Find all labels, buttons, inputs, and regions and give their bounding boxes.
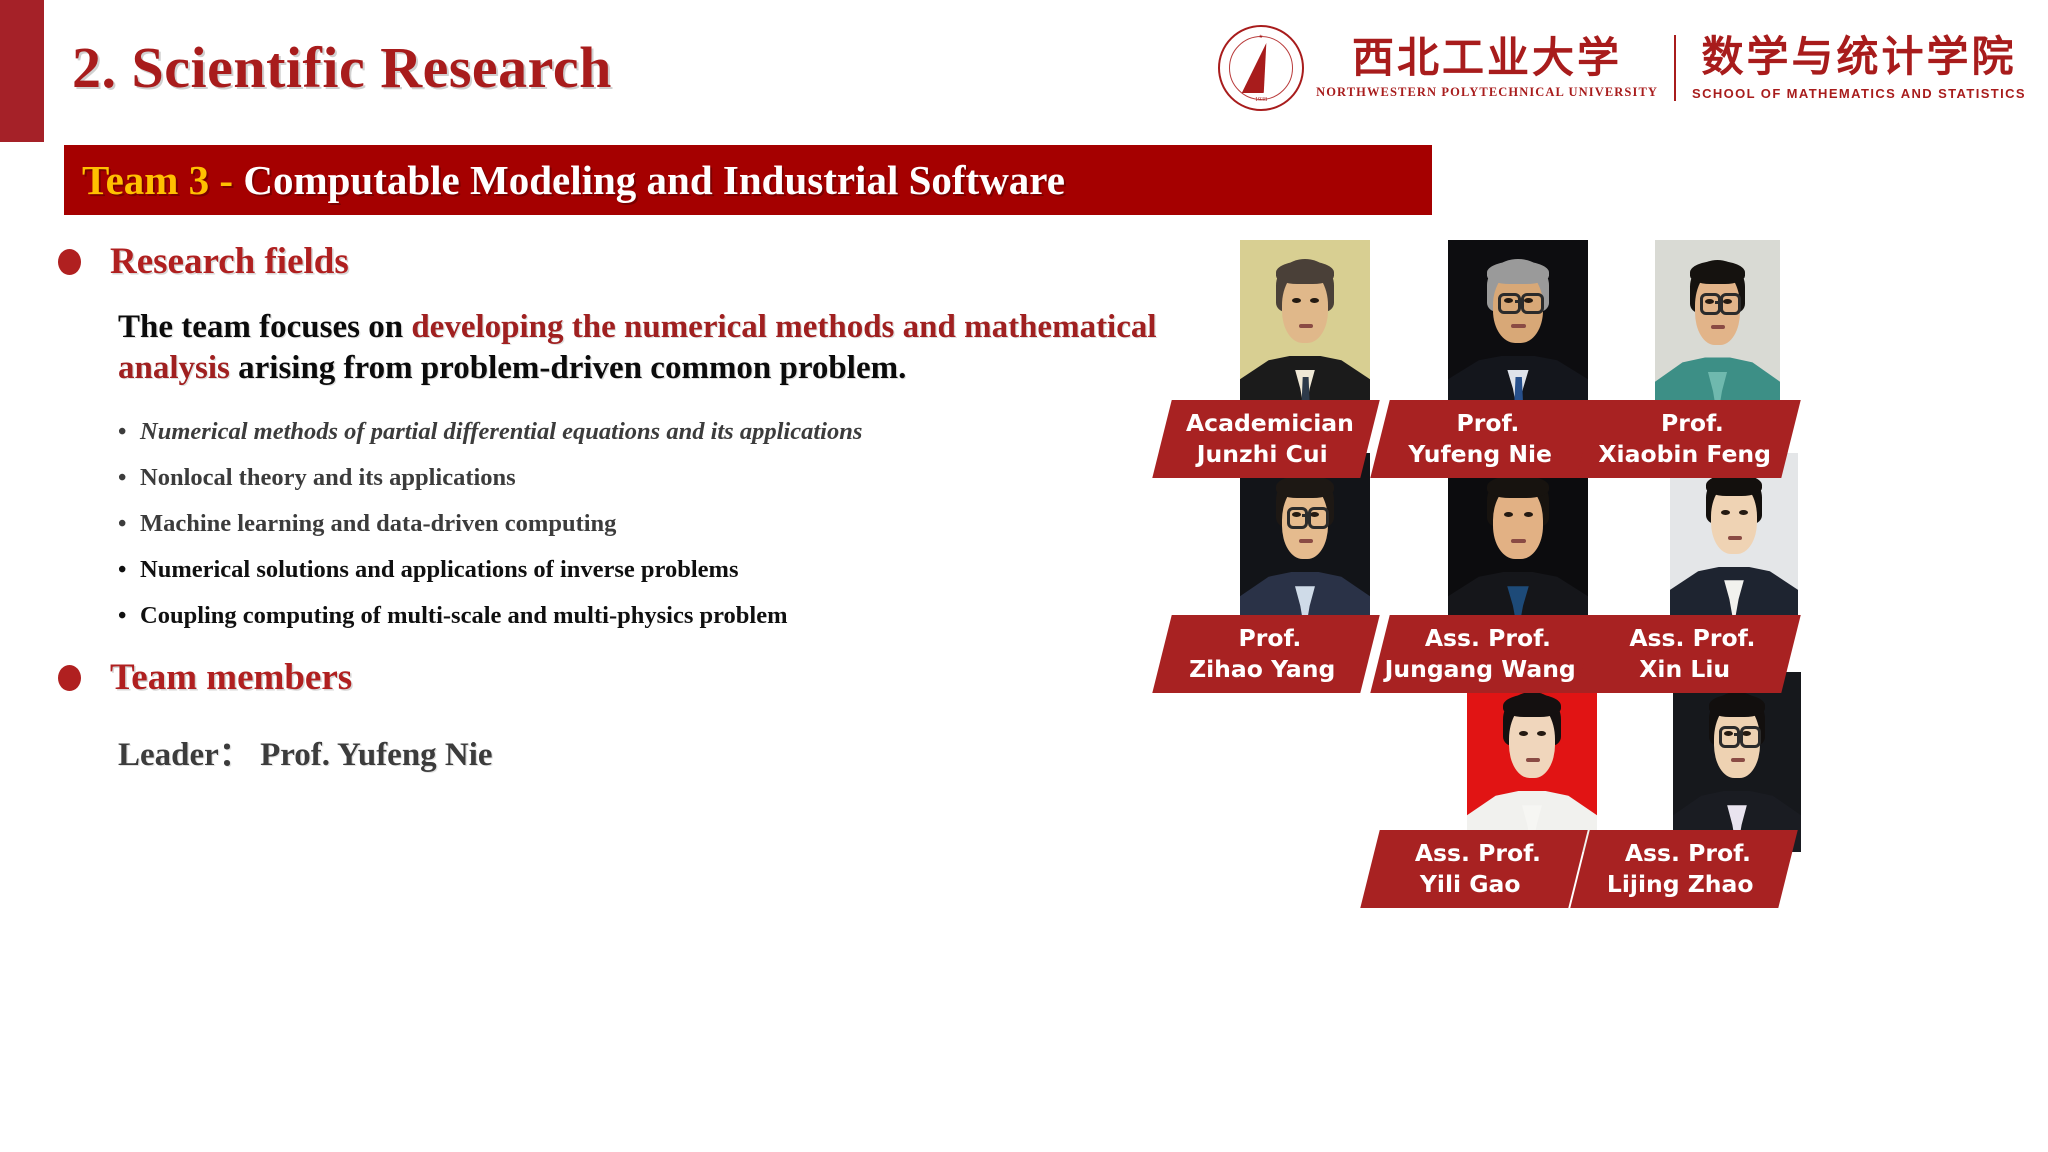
university-seal-icon: ★ 1938: [1218, 25, 1304, 111]
member-name: Xin Liu: [1582, 654, 1787, 685]
research-bullet-item: •Numerical methods of partial differenti…: [118, 418, 1118, 446]
research-fields-heading-row: Research fields: [0, 240, 1180, 283]
member-title: Ass. Prof.: [1384, 623, 1592, 654]
paragraph-part-1: The team focuses on: [118, 309, 411, 345]
member-photo: [1655, 240, 1780, 418]
member-title: Prof.: [1166, 623, 1374, 654]
seal-top-text: ★: [1220, 34, 1302, 40]
header-accent-bar: [0, 0, 44, 142]
team-members-heading-row: Team members: [0, 656, 1180, 699]
university-name-block: 西北工业大学 NORTHWESTERN POLYTECHNICAL UNIVER…: [1316, 36, 1658, 100]
school-name-cn: 数学与统计学院: [1702, 35, 2017, 79]
member-photo: [1670, 453, 1798, 625]
leader-name: Prof. Yufeng Nie: [260, 737, 493, 773]
member-photo: [1467, 672, 1597, 852]
page-title: 2. Scientific Research: [72, 34, 612, 101]
member-photo: [1240, 240, 1370, 415]
member-name: Xiaobin Feng: [1582, 439, 1787, 470]
member-name: Jungang Wang: [1376, 654, 1584, 685]
university-name-en: NORTHWESTERN POLYTECHNICAL UNIVERSITY: [1316, 85, 1658, 100]
member-title: Prof.: [1590, 408, 1795, 439]
research-bullet-item: •Coupling computing of multi-scale and m…: [118, 602, 1118, 630]
team-name-label: Computable Modeling and Industrial Softw…: [243, 157, 1065, 203]
seal-wing-shape: [1242, 43, 1276, 93]
content-column: Research fields The team focuses on deve…: [0, 240, 1180, 775]
member-name-tag: Ass. Prof.Xin Liu: [1576, 615, 1800, 693]
bullet-dot-icon: [58, 665, 81, 691]
member-title: Ass. Prof.: [1584, 838, 1792, 869]
leader-label: Leader：: [118, 737, 252, 773]
seal-bottom-text: 1938: [1220, 97, 1302, 103]
bullet-dot-icon: [58, 249, 81, 275]
member-photo: [1448, 240, 1588, 415]
team-title-banner: Team 3 - Computable Modeling and Industr…: [64, 145, 1432, 215]
member-name-tag: Ass. Prof.Jungang Wang: [1370, 615, 1597, 693]
paragraph-part-2: arising from problem-driven common probl…: [230, 350, 906, 386]
team-title-text: Team 3 - Computable Modeling and Industr…: [82, 156, 1065, 204]
member-name: Yufeng Nie: [1376, 439, 1584, 470]
bullet-marker-icon: •: [118, 419, 140, 446]
member-name-tag: Ass. Prof.Yili Gao: [1360, 830, 1587, 908]
member-name-tag: Prof.Zihao Yang: [1152, 615, 1379, 693]
research-bullet-item: •Machine learning and data-driven comput…: [118, 510, 1118, 538]
university-name-cn: 西北工业大学: [1352, 36, 1622, 80]
research-paragraph: The team focuses on developing the numer…: [118, 307, 1158, 388]
school-name-en: SCHOOL OF MATHEMATICS AND STATISTICS: [1692, 86, 2026, 101]
research-bullet-item: •Nonlocal theory and its applications: [118, 464, 1118, 492]
bullet-text: Machine learning and data-driven computi…: [140, 510, 1118, 538]
team-leader-row: Leader： Prof. Yufeng Nie: [118, 727, 1180, 775]
member-photo: [1448, 453, 1588, 633]
bullet-text: Numerical methods of partial differentia…: [140, 418, 1118, 446]
member-photo: [1673, 672, 1801, 852]
member-name: Zihao Yang: [1158, 654, 1366, 685]
member-name-tag: Prof.Xiaobin Feng: [1576, 400, 1800, 478]
slide: 2. Scientific Research ★ 1938 西北工业大学 NOR…: [0, 0, 2048, 1152]
member-name-tag: Prof.Yufeng Nie: [1370, 400, 1597, 478]
research-bullet-list: •Numerical methods of partial differenti…: [118, 418, 1118, 630]
member-name-tag: Ass. Prof.Lijing Zhao: [1570, 830, 1797, 908]
bullet-marker-icon: •: [118, 465, 140, 492]
member-name: Lijing Zhao: [1576, 869, 1784, 900]
research-fields-heading: Research fields: [110, 240, 349, 283]
logo-divider: [1674, 35, 1676, 101]
bullet-text: Nonlocal theory and its applications: [140, 464, 1118, 492]
bullet-text: Coupling computing of multi-scale and mu…: [140, 602, 1118, 630]
member-name: Yili Gao: [1366, 869, 1574, 900]
member-title: Ass. Prof.: [1374, 838, 1582, 869]
member-name-tag: AcademicianJunzhi Cui: [1152, 400, 1379, 478]
team-photo-grid: AcademicianJunzhi Cui Prof.Yufeng Nie Pr…: [1190, 240, 2048, 1140]
bullet-text: Numerical solutions and applications of …: [140, 556, 1118, 584]
member-title: Prof.: [1384, 408, 1592, 439]
university-logo: ★ 1938 西北工业大学 NORTHWESTERN POLYTECHNICAL…: [1236, 16, 2026, 120]
member-name: Junzhi Cui: [1158, 439, 1366, 470]
member-photo: [1240, 453, 1370, 633]
team-members-heading: Team members: [110, 656, 352, 699]
bullet-marker-icon: •: [118, 557, 140, 584]
member-title: Ass. Prof.: [1590, 623, 1795, 654]
bullet-marker-icon: •: [118, 603, 140, 630]
member-title: Academician: [1166, 408, 1374, 439]
team-number-label: Team 3 -: [82, 157, 243, 203]
school-name-block: 数学与统计学院 SCHOOL OF MATHEMATICS AND STATIS…: [1692, 35, 2026, 100]
bullet-marker-icon: •: [118, 511, 140, 538]
research-bullet-item: •Numerical solutions and applications of…: [118, 556, 1118, 584]
